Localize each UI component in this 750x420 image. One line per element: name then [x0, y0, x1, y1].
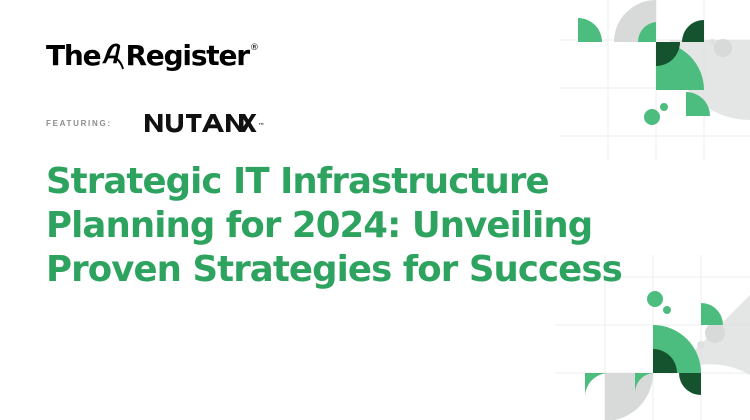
- grid-lines: [560, 0, 750, 160]
- nutanix-logo: ™: [145, 112, 265, 134]
- gray-shapes: [605, 295, 750, 420]
- green-shapes: [585, 291, 723, 397]
- register-a-glyph-icon: [102, 42, 124, 74]
- featuring-label: FEATURING:: [46, 119, 112, 128]
- nutanix-wordmark-icon: [145, 112, 257, 134]
- brand-logo-row: The Register ®: [46, 42, 259, 74]
- registered-trademark-icon: ®: [250, 44, 259, 53]
- logo-text-the: The: [46, 42, 100, 70]
- logo-text-register: Register: [125, 42, 248, 70]
- gray-shapes: [614, 0, 750, 120]
- headline-line-3: Proven Strategies for Success: [46, 248, 666, 292]
- the-register-logo: The Register ®: [46, 42, 259, 74]
- green-shapes: [578, 18, 710, 125]
- headline-line-1: Strategic IT Infrastructure: [46, 160, 666, 204]
- promo-banner: The Register ® FEATURING:: [0, 0, 750, 420]
- nutanix-trademark-icon: ™: [258, 122, 265, 130]
- headline-line-2: Planning for 2024: Unveiling: [46, 204, 666, 248]
- featuring-row: FEATURING: ™: [46, 112, 265, 134]
- decoration-top-right: [560, 0, 750, 160]
- page-title: Strategic IT Infrastructure Planning for…: [46, 160, 666, 292]
